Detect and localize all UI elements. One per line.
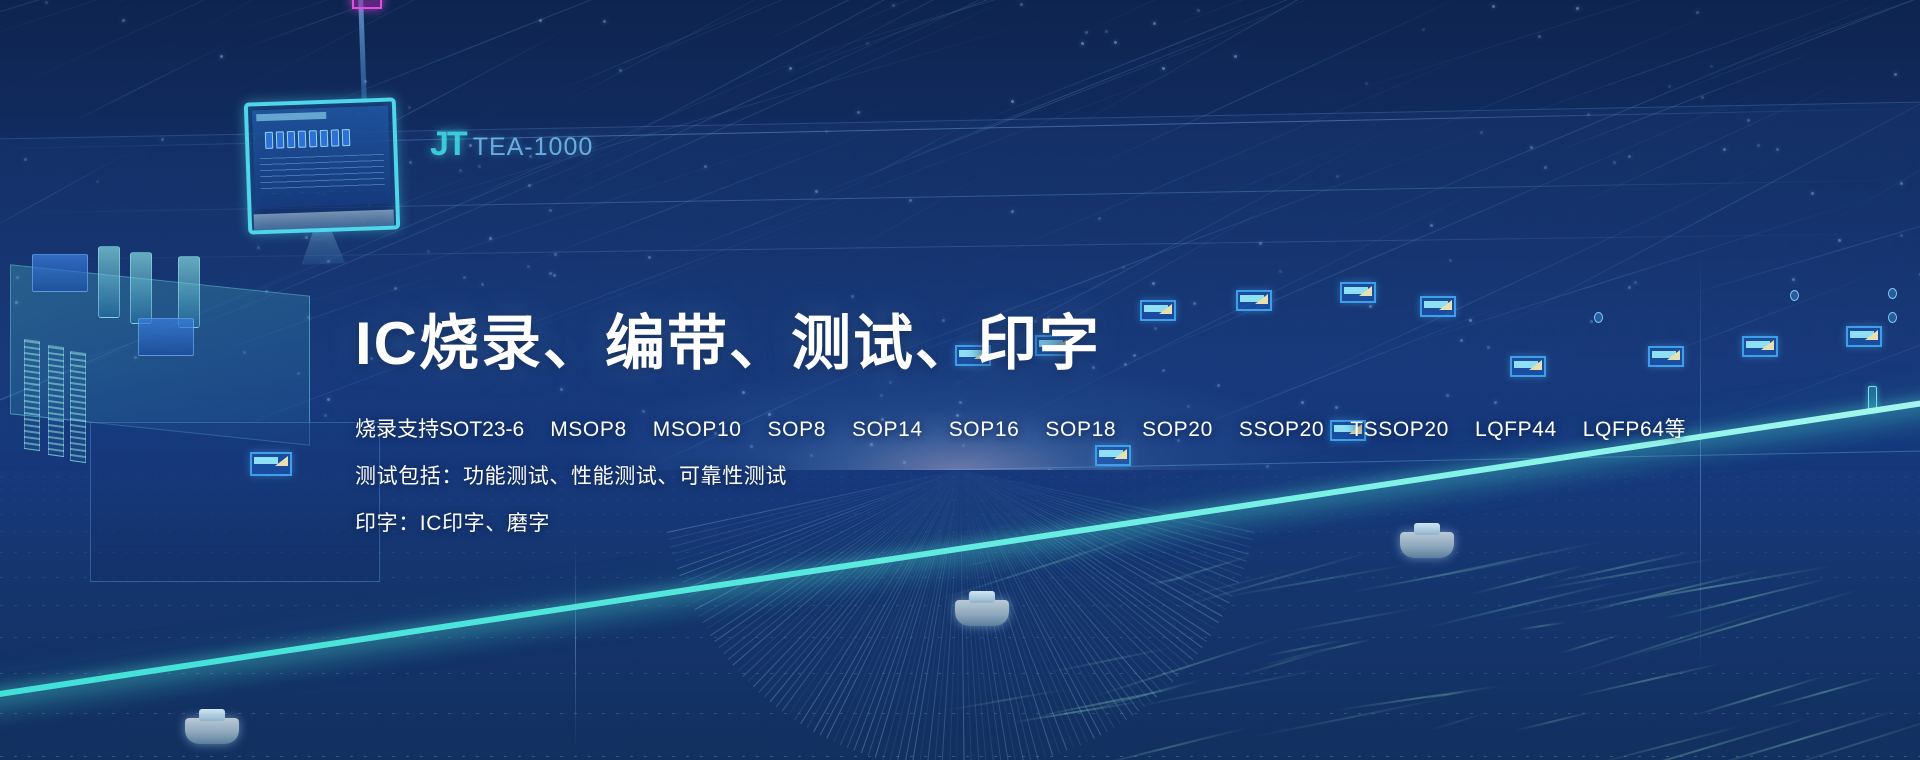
equipment-logo-model: TEA-1000 [473,133,594,162]
package-item: SOP14 [852,418,923,442]
package-item: SOP20 [1142,418,1213,442]
rail-carriage-graphic [955,600,1009,626]
chip-tray-graphic [1236,290,1272,311]
package-item: SOP8 [768,418,826,442]
vertical-guide-line [575,540,576,750]
burn-in-machine-graphic [0,222,370,522]
package-item: MSOP10 [653,418,742,442]
package-item: TSSOP20 [1350,418,1449,442]
package-item: LQFP64等 [1583,413,1686,443]
package-item: SOP18 [1045,418,1116,442]
page-title: IC烧录、编带、测试、印字 [355,310,1675,377]
chip-tray-graphic [1742,336,1778,357]
chip-tray-graphic [1340,282,1376,303]
equipment-logo: JT TEA-1000 [430,125,593,164]
indicator-dot-graphic [1888,312,1897,323]
indicator-dot-graphic [1888,288,1897,299]
package-item: LQFP44 [1475,418,1557,442]
package-item: SSOP20 [1239,418,1324,442]
banner-content: IC烧录、编带、测试、印字 烧录支持SOT23-6 MSOP8 MSOP10 S… [355,310,1675,537]
supported-packages-row: 烧录支持SOT23-6 MSOP8 MSOP10 SOP8 SOP14 SOP1… [355,413,1675,443]
package-item: SOP16 [949,418,1020,442]
package-item: MSOP8 [550,418,627,442]
rail-carriage-graphic [185,718,239,744]
indicator-dot-graphic [1790,290,1799,301]
testing-services-line: 测试包括：功能测试、性能测试、可靠性测试 [355,460,1675,490]
equipment-logo-brand: JT [430,125,466,164]
hero-banner: JT TEA-1000 IC烧录、编带、测试、印字 烧录支持SOT23-6 MS… [0,0,1920,760]
operator-monitor-graphic [244,97,401,234]
chip-tray-graphic [1846,326,1882,347]
marking-services-line: 印字：IC印字、磨字 [355,507,1675,537]
chip-tray-graphic [250,452,292,476]
packages-lead-label: 烧录支持SOT23-6 [355,413,524,443]
magenta-chip-indicator [352,0,382,9]
